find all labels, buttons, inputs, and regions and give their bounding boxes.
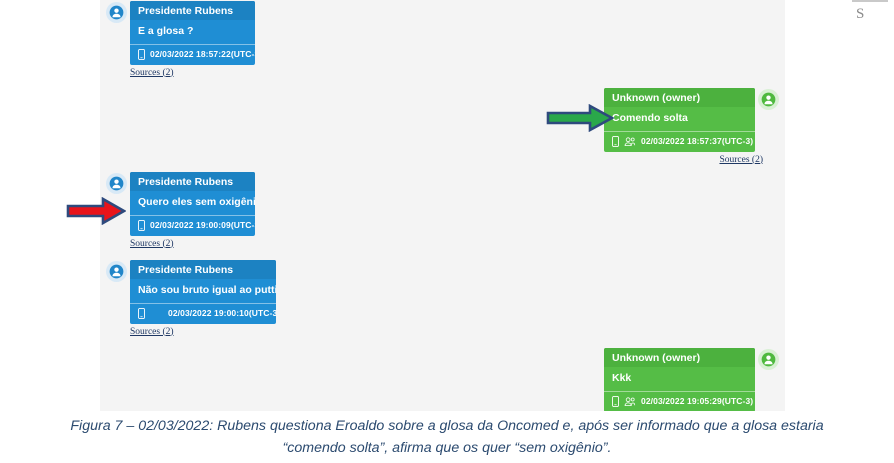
green-arrow-icon — [546, 104, 614, 132]
message-group-5: Unknown (owner) Kkk 02/03/2022 — [574, 348, 779, 411]
phone-icon — [138, 49, 145, 60]
sources-link[interactable]: Sources (2) — [130, 68, 174, 78]
message-text: Não sou bruto igual ao puttin ... — [130, 279, 276, 303]
cutoff-letter: S — [856, 6, 864, 23]
message-timestamp: 02/03/2022 18:57:37(UTC-3) — [641, 136, 753, 146]
avatar — [758, 89, 779, 110]
message-row: Presidente Rubens Quero eles sem oxigêni… — [106, 172, 255, 236]
caption-line-2: “comendo solta”, afirma que os quer “sem… — [0, 438, 894, 460]
sources-wrap: Sources (2) — [130, 236, 255, 249]
message-bubble[interactable]: Presidente Rubens Não sou bruto igual ao… — [130, 260, 276, 324]
sources-link[interactable]: Sources (2) — [130, 239, 174, 249]
message-bubble[interactable]: Unknown (owner) Comendo solta — [604, 88, 755, 152]
cutoff-page-fragment: S — [836, 0, 894, 30]
message-sender: Presidente Rubens — [130, 260, 276, 279]
message-row: Presidente Rubens Não sou bruto igual ao… — [106, 260, 276, 324]
caption-line-1: Figura 7 – 02/03/2022: Rubens questiona … — [0, 416, 894, 438]
message-group-1: Presidente Rubens E a glosa ? 02/03/2022… — [106, 1, 255, 78]
message-text: E a glosa ? — [130, 20, 255, 44]
message-footer: 02/03/2022 18:57:37(UTC-3) — [604, 131, 755, 152]
avatar — [758, 349, 779, 370]
group-icon — [624, 136, 636, 147]
message-sender: Unknown (owner) — [604, 88, 755, 107]
sources-wrap: Sources (2) — [130, 65, 255, 78]
message-sender: Presidente Rubens — [130, 1, 255, 20]
avatar — [106, 173, 127, 194]
group-icon — [624, 396, 636, 407]
message-text: Comendo solta — [604, 107, 755, 131]
phone-icon — [612, 136, 619, 147]
red-arrow-icon — [66, 197, 126, 225]
sources-wrap: Sources (2) — [544, 152, 763, 165]
avatar — [106, 2, 127, 23]
message-sender: Presidente Rubens — [130, 172, 255, 191]
chat-transcript-panel: Presidente Rubens E a glosa ? 02/03/2022… — [100, 0, 785, 411]
message-text: Quero eles sem oxigênio.... — [130, 191, 255, 215]
message-footer: 02/03/2022 18:57:22(UTC-3) — [130, 44, 255, 65]
sources-link[interactable]: Sources (2) — [130, 327, 174, 337]
message-bubble[interactable]: Unknown (owner) Kkk 02/03/2022 — [604, 348, 755, 411]
message-bubble[interactable]: Presidente Rubens E a glosa ? 02/03/2022… — [130, 1, 255, 65]
message-footer: 02/03/2022 19:05:29(UTC-3) — [604, 391, 755, 411]
message-footer: 02/03/2022 19:00:09(UTC-3) — [130, 215, 255, 236]
message-row: Unknown (owner) Kkk 02/03/2022 — [574, 348, 779, 411]
sources-wrap: Sources (2) — [130, 324, 276, 337]
figure-caption: Figura 7 – 02/03/2022: Rubens questiona … — [0, 416, 894, 459]
message-timestamp: 02/03/2022 19:00:10(UTC-3) — [168, 308, 276, 318]
message-group-3: Presidente Rubens Quero eles sem oxigêni… — [106, 172, 255, 249]
message-timestamp: 02/03/2022 19:00:09(UTC-3) — [150, 220, 255, 230]
phone-icon — [138, 220, 145, 231]
avatar — [106, 261, 127, 282]
phone-icon — [612, 396, 619, 407]
message-sender: Unknown (owner) — [604, 348, 755, 367]
cutoff-bar — [852, 0, 888, 2]
message-row: Presidente Rubens E a glosa ? 02/03/2022… — [106, 1, 255, 65]
message-timestamp: 02/03/2022 19:05:29(UTC-3) — [641, 396, 753, 406]
phone-icon — [138, 308, 145, 319]
message-group-4: Presidente Rubens Não sou bruto igual ao… — [106, 260, 276, 337]
message-text: Kkk — [604, 367, 755, 391]
message-footer: 02/03/2022 19:00:10(UTC-3) — [130, 303, 276, 324]
message-timestamp: 02/03/2022 18:57:22(UTC-3) — [150, 49, 255, 59]
message-bubble[interactable]: Presidente Rubens Quero eles sem oxigêni… — [130, 172, 255, 236]
sources-link[interactable]: Sources (2) — [719, 155, 763, 165]
